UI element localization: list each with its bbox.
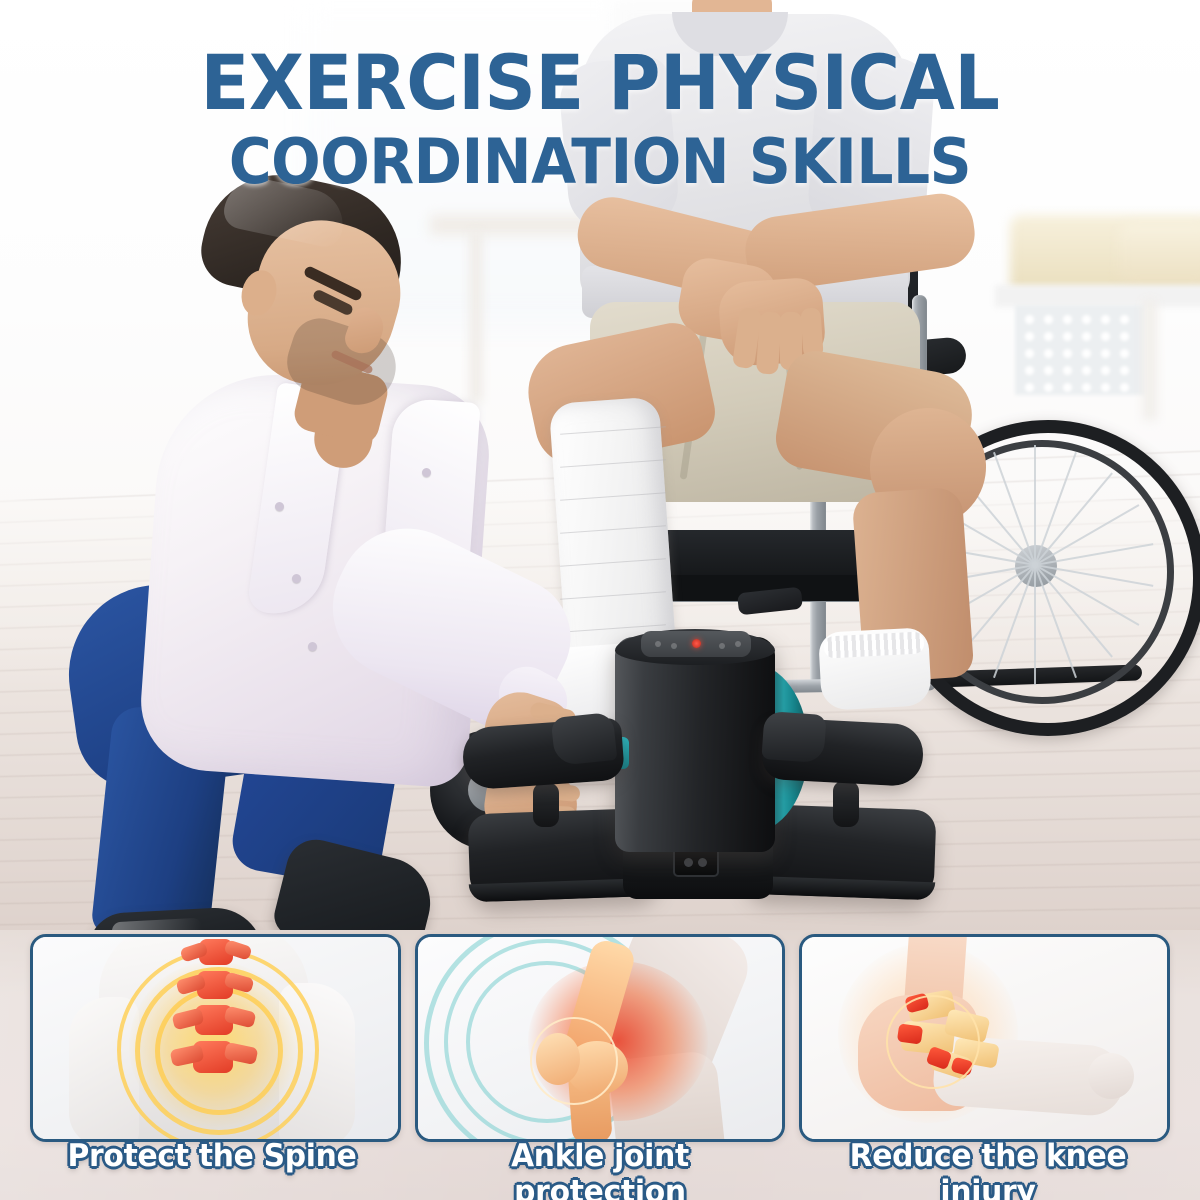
device-control-button[interactable] <box>735 641 741 647</box>
device-power-indicator-light <box>692 639 701 648</box>
device-socket-pin <box>698 858 707 867</box>
knee-joint-focus-circle <box>530 1017 618 1105</box>
therapist-coat-button <box>422 468 431 477</box>
feature-captions: Protect the Spine Ankle joint protection… <box>0 1138 1200 1196</box>
therapist-shoe-back <box>270 833 440 935</box>
caption-spine: Protect the Spine <box>33 1138 390 1196</box>
device-footplate-right-lip <box>761 711 826 763</box>
device-footplate-left-lip <box>551 712 618 766</box>
feature-card-knee[interactable] <box>799 934 1170 1142</box>
feature-cards <box>0 934 1200 1144</box>
device-control-button[interactable] <box>671 643 677 649</box>
device-socket-pin <box>684 858 693 867</box>
caption-ankle: Ankle joint protection <box>421 1138 778 1196</box>
headline-line-1: EXERCISE PHYSICAL <box>36 46 1164 120</box>
therapist-coat-button <box>275 502 284 511</box>
therapist-coat-button <box>292 574 301 583</box>
product-marketing-image: EXERCISE PHYSICAL COORDINATION SKILLS <box>0 0 1200 1200</box>
headline: EXERCISE PHYSICAL COORDINATION SKILLS <box>0 46 1200 193</box>
pedal-exerciser-device[interactable] <box>455 615 935 925</box>
therapist-coat-button <box>308 642 317 651</box>
caption-knee: Reduce the knee injury <box>809 1138 1166 1196</box>
device-control-button[interactable] <box>719 643 725 649</box>
patient-finger <box>756 311 782 374</box>
device-pedal-post-left <box>533 783 559 827</box>
headline-line-2: COORDINATION SKILLS <box>36 132 1164 193</box>
spine-vertebrae-group <box>181 939 247 1089</box>
device-pedal-post-right <box>833 781 859 827</box>
device-control-button[interactable] <box>655 641 661 647</box>
ankle-joint-focus-circle <box>886 995 980 1089</box>
device-housing <box>615 637 775 852</box>
feature-card-spine[interactable] <box>30 934 401 1142</box>
feature-card-ankle[interactable] <box>415 934 786 1142</box>
